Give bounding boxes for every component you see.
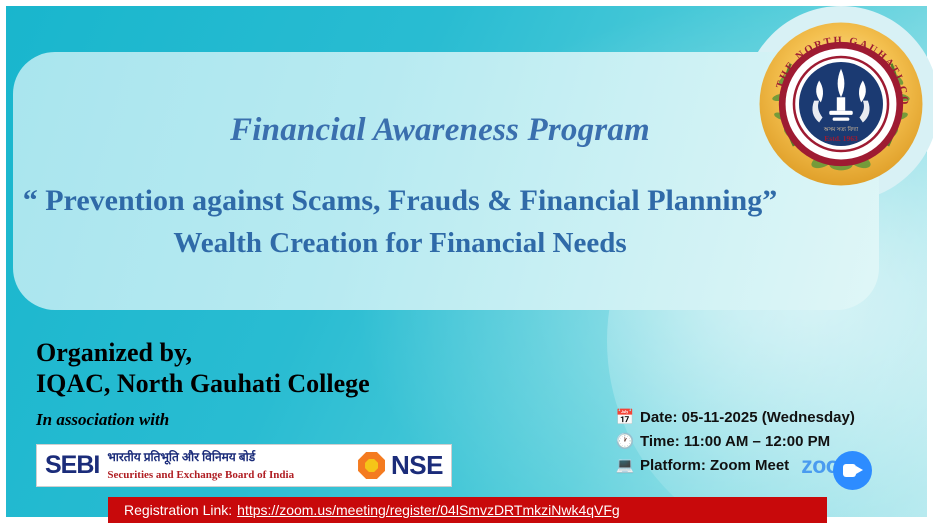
- sebi-wordmark: भारतीय प्रतिभूति और विनिमय बोर्ड Securit…: [107, 449, 294, 483]
- event-platform: Platform: Zoom Meet: [640, 457, 789, 474]
- association-label: In association with: [36, 410, 370, 430]
- registration-link[interactable]: https://zoom.us/meeting/register/04lSmvz…: [237, 502, 620, 518]
- detail-row-platform: 💻 Platform: Zoom Meet zoom: [615, 453, 859, 477]
- registration-label: Registration Link:: [124, 502, 232, 518]
- sebi-english-name: Securities and Exchange Board of India: [107, 469, 294, 481]
- nse-octagon-icon: [358, 452, 385, 479]
- event-details: 📅 Date: 05-11-2025 (Wednesday) 🕐 Time: 1…: [615, 405, 859, 477]
- nse-logo: NSE: [358, 450, 443, 481]
- event-date: Date: 05-11-2025 (Wednesday): [640, 409, 855, 426]
- video-camera-icon: [843, 464, 863, 477]
- program-topic: “ Prevention against Scams, Frauds & Fin…: [0, 184, 800, 218]
- content-panel: [13, 52, 879, 310]
- organizer-block: Organized by, IQAC, North Gauhati Colleg…: [36, 337, 370, 430]
- poster-root: THE NORTH GAUHATI COLLEGE Estd. 1963 অসম…: [0, 0, 933, 523]
- nse-wordmark: NSE: [391, 450, 443, 481]
- college-seal: THE NORTH GAUHATI COLLEGE Estd. 1963 অসম…: [757, 20, 925, 188]
- event-time: Time: 11:00 AM – 12:00 PM: [640, 433, 830, 450]
- detail-row-time: 🕐 Time: 11:00 AM – 12:00 PM: [615, 429, 859, 453]
- sebi-hindi-name: भारतीय प्रतिभूति और विनिमय बोर्ड: [107, 450, 255, 464]
- registration-bar: Registration Link: https://zoom.us/meeti…: [108, 497, 827, 523]
- sponsor-logo-strip: SEBI भारतीय प्रतिभूति और विनिमय बोर्ड Se…: [36, 444, 452, 487]
- detail-row-date: 📅 Date: 05-11-2025 (Wednesday): [615, 405, 859, 429]
- organized-by-label: Organized by,: [36, 337, 370, 368]
- calendar-icon: 📅: [615, 410, 635, 425]
- zoom-app-icon: [833, 451, 872, 490]
- sebi-logo-icon: SEBI: [45, 453, 99, 478]
- organizer-name: IQAC, North Gauhati College: [36, 368, 370, 399]
- clock-icon: 🕐: [615, 434, 635, 449]
- program-title: Financial Awareness Program: [0, 112, 880, 149]
- program-subtopic: Wealth Creation for Financial Needs: [0, 227, 800, 260]
- computer-icon: 💻: [615, 458, 635, 473]
